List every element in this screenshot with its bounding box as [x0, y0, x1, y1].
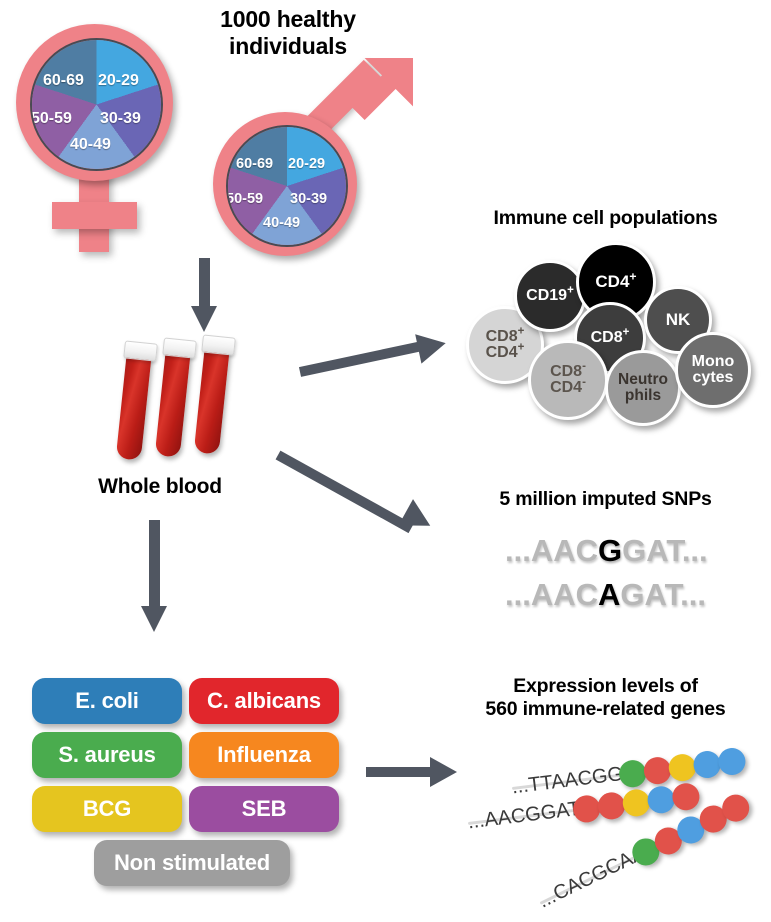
immune-cell-label: CD8+	[591, 330, 630, 346]
tube-cap	[123, 340, 158, 361]
immune-cell-label: CD19+	[526, 288, 574, 304]
snp-title: 5 million imputed SNPs	[440, 488, 771, 511]
blood-tube	[154, 338, 192, 465]
snp-prefix: ...AAC	[505, 533, 598, 568]
pie-label-30-39-male: 30-39	[290, 191, 327, 207]
immune-cell-cluster: CD8+CD4+ CD19+ CD4+ CD8+ NK CD8-CD4- Neu…	[466, 240, 766, 415]
stimulus-e-coli[interactable]: E. coli	[32, 678, 182, 724]
snp-allele: G	[598, 533, 622, 568]
figure-canvas: 1000 healthy individuals 20-29 30-39 40-…	[0, 0, 771, 922]
cohort-title: 1000 healthy individuals	[168, 6, 408, 60]
arrow-stimuli-to-expression	[366, 755, 476, 795]
immune-cell-label: CD8-CD4-	[550, 364, 586, 397]
arrow-head	[191, 306, 217, 332]
strand-bead	[692, 749, 722, 779]
immune-cell-label: NK	[666, 311, 691, 329]
expression-title-line1: Expression levels of	[440, 675, 771, 698]
stimuli-panel: E. coli C. albicans S. aureus Influenza …	[32, 678, 352, 898]
strand-bead	[596, 790, 626, 820]
blood-tubes	[110, 330, 280, 470]
strand-sequence: ...AACGGAT	[467, 798, 582, 835]
strand-bead	[621, 787, 651, 817]
stimulus-label: C. albicans	[207, 688, 321, 714]
strand-bead	[667, 752, 697, 782]
arrow-blood-to-stimuli	[140, 520, 170, 640]
arrow-shaft	[276, 451, 414, 533]
female-age-pie: 20-29 30-39 40-49 50-59 60-69	[30, 38, 163, 171]
stimulus-bcg[interactable]: BCG	[32, 786, 182, 832]
expression-title-line2: 560 immune-related genes	[440, 698, 771, 721]
stimulus-seb[interactable]: SEB	[189, 786, 339, 832]
arrow-head	[141, 606, 167, 632]
snp-prefix: ...AAC	[505, 577, 598, 612]
pie-label-30-39-female: 30-39	[100, 110, 141, 128]
arrow-shaft	[199, 258, 210, 310]
pie-label-60-69-female: 60-69	[43, 72, 84, 90]
pie-label-50-59-female: 50-59	[31, 110, 72, 128]
immune-cell-label: CD8+CD4+	[486, 329, 525, 362]
tube-body	[116, 351, 152, 461]
pie-label-40-49-female: 40-49	[70, 136, 111, 154]
snp-sequence-row: ...AACGGAT...	[505, 533, 708, 569]
immune-cell-cd19p: CD19+	[514, 260, 586, 332]
pie-label-40-49-male: 40-49	[263, 215, 300, 231]
whole-blood-label: Whole blood	[45, 475, 275, 500]
female-symbol: 20-29 30-39 40-49 50-59 60-69	[8, 12, 188, 242]
strand-bead	[717, 746, 747, 776]
strand-bead	[646, 784, 676, 814]
immune-cell-label: CD4+	[595, 273, 636, 291]
tube-cap	[162, 337, 197, 358]
male-symbol: 20-29 30-39 40-49 50-59 60-69	[203, 70, 413, 255]
immune-cell-monocytes: Monocytes	[675, 332, 751, 408]
pie-label-50-59-male: 50-59	[226, 191, 263, 207]
stimulus-label: SEB	[242, 796, 287, 822]
stimulus-label: Non stimulated	[114, 850, 270, 876]
snp-sequence-row: ...AACAGAT...	[505, 577, 706, 613]
arrow-cohort-to-blood	[190, 258, 220, 338]
immune-cell-label: Monocytes	[692, 354, 735, 387]
arrow-blood-to-snp	[278, 436, 463, 546]
stimulus-s-aureus[interactable]: S. aureus	[32, 732, 182, 778]
snp-suffix: GAT...	[620, 577, 706, 612]
expression-title: Expression levels of 560 immune-related …	[440, 675, 771, 721]
blood-tube	[115, 341, 153, 468]
stimulus-label: BCG	[83, 796, 131, 822]
immune-cell-cd8n-cd4n: CD8-CD4-	[528, 340, 608, 420]
tube-body	[194, 345, 230, 455]
tube-cap	[201, 334, 236, 355]
stimulus-label: S. aureus	[58, 742, 155, 768]
pie-label-20-29-male: 20-29	[288, 156, 325, 172]
immune-cell-label: Neutrophils	[618, 372, 668, 404]
arrow-head	[398, 499, 437, 539]
male-age-pie: 20-29 30-39 40-49 50-59 60-69	[226, 125, 348, 247]
strand-bead	[642, 755, 672, 785]
strand-bead	[671, 781, 701, 811]
stimulus-label: E. coli	[75, 688, 138, 714]
stimulus-non-stimulated[interactable]: Non stimulated	[94, 840, 290, 886]
arrow-shaft	[366, 767, 434, 777]
arrow-shaft	[299, 340, 426, 376]
arrow-shaft	[149, 520, 160, 610]
female-stem-cross	[52, 202, 137, 229]
arrow-head	[415, 328, 449, 363]
cohort-title-line2: individuals	[168, 33, 408, 60]
arrow-blood-to-immune	[300, 325, 460, 380]
stimulus-influenza[interactable]: Influenza	[189, 732, 339, 778]
pie-label-20-29-female: 20-29	[98, 72, 139, 90]
cohort-title-line1: 1000 healthy	[168, 6, 408, 33]
snp-allele: A	[598, 577, 620, 612]
arrow-head	[430, 757, 457, 787]
tube-body	[155, 348, 191, 458]
pie-label-60-69-male: 60-69	[236, 156, 273, 172]
blood-tube	[193, 335, 231, 462]
stimulus-label: Influenza	[217, 742, 311, 768]
snp-suffix: GAT...	[622, 533, 708, 568]
immune-title: Immune cell populations	[440, 207, 771, 230]
immune-cell-neutrophils: Neutrophils	[605, 350, 681, 426]
stimulus-c-albicans[interactable]: C. albicans	[189, 678, 339, 724]
